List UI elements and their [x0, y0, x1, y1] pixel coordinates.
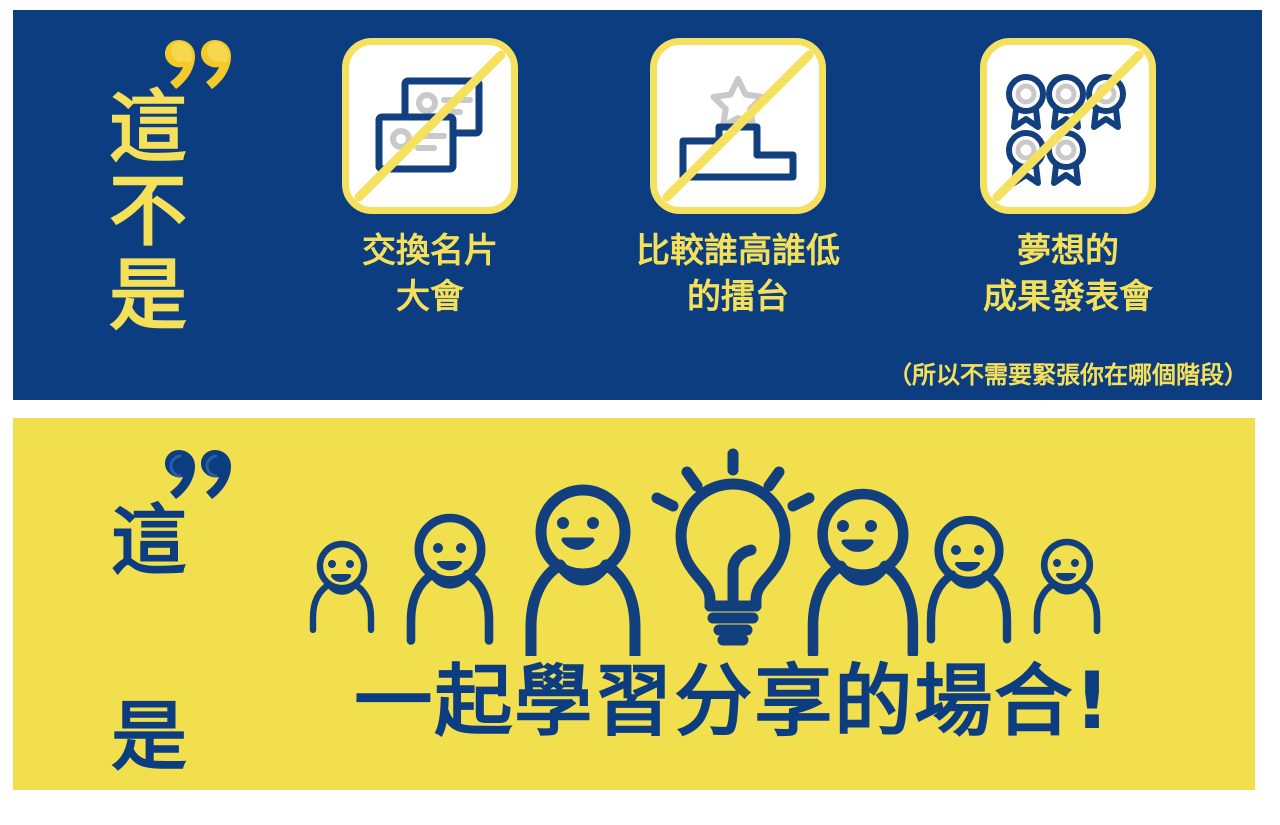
card-podium-label: 比較誰高誰低 的擂台: [598, 228, 878, 320]
yellow-panel-headline: 一起學習分享的場合!: [253, 658, 1213, 746]
yellow-heading-vertical: 這 是: [111, 498, 231, 584]
blue-heading-char-2: 不: [109, 170, 219, 254]
yellow-panel-heading-block: 這 是: [63, 436, 263, 776]
blue-heading-char-1: 這: [109, 86, 219, 170]
people-and-lightbulb-illustration: [293, 446, 1153, 656]
card-business-cards-label: 交換名片 大會: [295, 228, 565, 320]
blue-heading-char-3: 是: [109, 254, 219, 338]
blue-panel-heading-block: 這 不 是: [63, 30, 263, 380]
card-medals-note: （所以不需要緊張你在哪個階段）: [853, 359, 1280, 391]
award-medals-icon: [980, 38, 1156, 214]
business-cards-icon: [342, 38, 518, 214]
card-podium: 比較誰高誰低 的擂台: [598, 38, 878, 320]
card-medals-label: 夢想的 成果發表會: [903, 228, 1233, 320]
yellow-heading-char-2: 是: [111, 694, 187, 780]
quote-mark-icon: [163, 448, 233, 502]
podium-star-icon: [650, 38, 826, 214]
yellow-heading-char-1: 這: [111, 496, 187, 585]
blue-heading-vertical: 這 不 是: [109, 86, 219, 338]
card-business-cards: 交換名片 大會: [295, 38, 565, 320]
negative-cards-group: 交換名片 大會 比較誰高誰低 的擂台: [273, 38, 1263, 398]
blue-panel: 這 不 是: [13, 10, 1262, 400]
infographic-canvas: 這 不 是: [0, 0, 1280, 825]
yellow-panel: 這 是: [13, 418, 1255, 790]
card-medals: 夢想的 成果發表會 （所以不需要緊張你在哪個階段）: [903, 38, 1233, 320]
